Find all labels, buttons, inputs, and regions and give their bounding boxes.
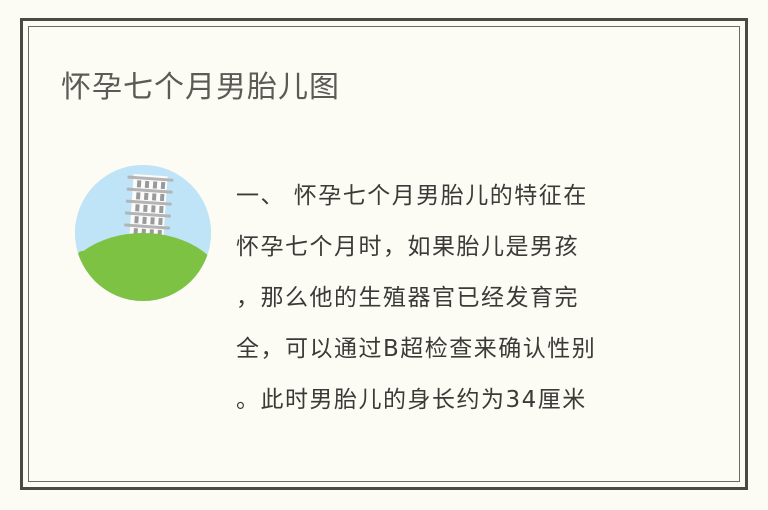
paragraph-line: ，那么他的生殖器官已经发育完 — [236, 273, 676, 324]
article-outer-frame: 怀孕七个月男胎儿图 — [20, 18, 748, 490]
illustration-circle — [75, 165, 211, 301]
paragraph-line: 怀孕七个月时，如果胎儿是男孩 — [236, 222, 676, 273]
paragraph-line: 全，可以通过B超检查来确认性别 — [236, 324, 676, 375]
hill-foreground — [75, 233, 211, 301]
paragraph-line: 。此时男胎儿的身长约为34厘米 — [236, 375, 676, 426]
page-title: 怀孕七个月男胎儿图 — [61, 69, 340, 107]
article-content: 怀孕七个月男胎儿图 — [23, 21, 745, 487]
paragraph-line: 一、 怀孕七个月男胎儿的特征在 — [236, 171, 676, 222]
illustration-figure — [75, 165, 211, 301]
page-root: 怀孕七个月男胎儿图 — [0, 0, 768, 510]
article-paragraph: 一、 怀孕七个月男胎儿的特征在 怀孕七个月时，如果胎儿是男孩 ，那么他的生殖器官… — [236, 171, 676, 426]
